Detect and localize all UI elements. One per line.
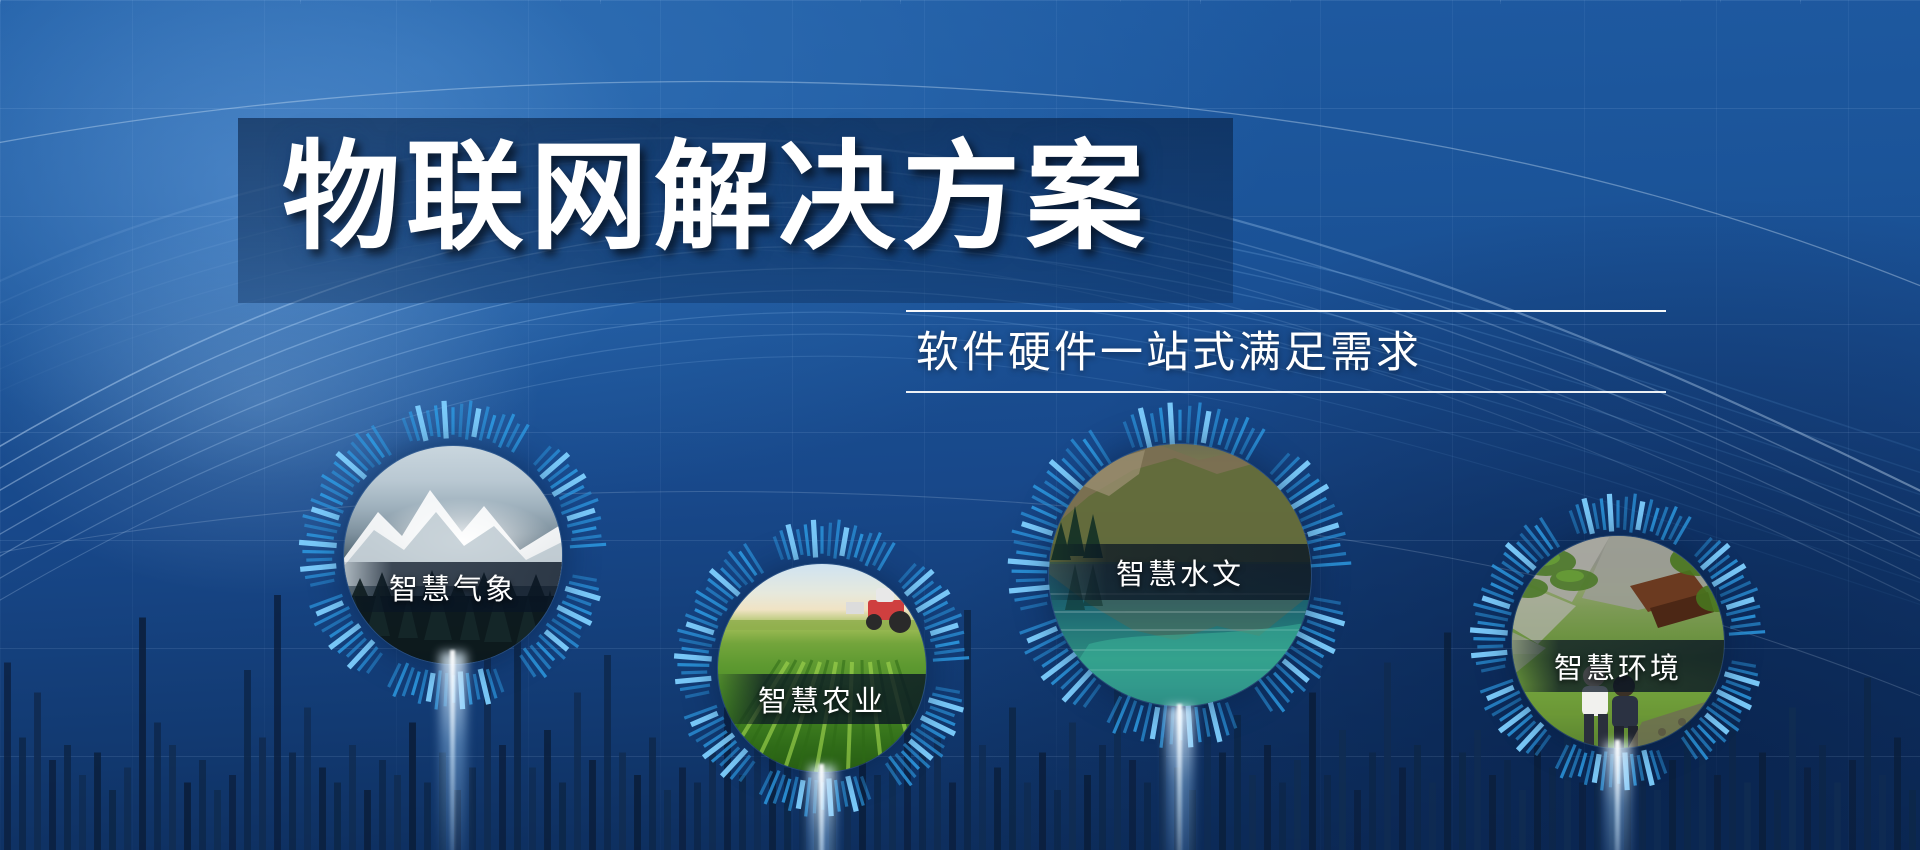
subtitle-rule-top [906, 310, 1666, 312]
node-photo-agriculture[interactable]: 智慧农业 [718, 564, 926, 772]
light-beam-core-weather [450, 650, 455, 850]
node-caption-environment: 智慧环境 [1512, 640, 1724, 692]
light-beam-core-agriculture [819, 764, 824, 850]
light-beam-core-environment [1615, 740, 1620, 850]
subtitle-rule-bottom [906, 391, 1666, 393]
iot-solution-banner: 物联网解决方案 软件硬件一站式满足需求 [0, 0, 1920, 850]
light-beam-core-hydrology [1177, 704, 1182, 850]
node-caption-agriculture: 智慧农业 [718, 674, 926, 724]
page-title: 物联网解决方案 [282, 132, 1150, 264]
node-photo-hydrology[interactable]: 智慧水文 [1049, 444, 1311, 706]
scene-snow-mountain-forest [344, 446, 562, 664]
node-caption-hydrology: 智慧水文 [1049, 544, 1311, 600]
subtitle-block: 软件硬件一站式满足需求 [906, 310, 1666, 393]
node-photo-weather[interactable]: 智慧气象 [344, 446, 562, 664]
scene-green-farm-field-tractor [718, 564, 926, 772]
node-photo-environment[interactable]: 智慧环境 [1512, 536, 1724, 748]
node-caption-weather: 智慧气象 [344, 562, 562, 612]
page-subtitle: 软件硬件一站式满足需求 [906, 312, 1666, 391]
